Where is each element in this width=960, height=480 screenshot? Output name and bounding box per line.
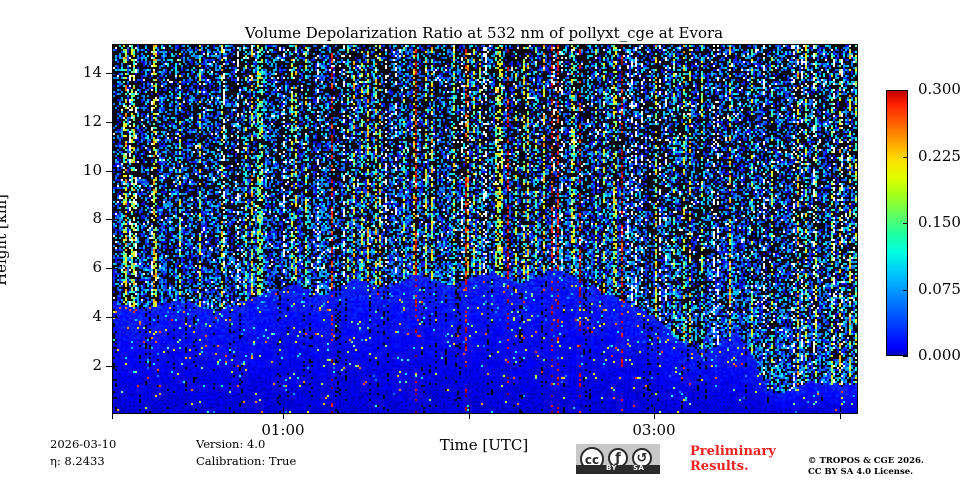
colorbar-tick-label: 0.150	[918, 213, 960, 231]
y-tick-label: 8	[92, 209, 102, 227]
footer-eta-value: η: 8.2433	[50, 454, 105, 468]
footer-date: 2026-03-10	[50, 437, 116, 451]
x-tick-mark	[283, 413, 284, 419]
y-tick-mark-inner	[113, 317, 118, 318]
y-tick-mark	[106, 73, 112, 74]
x-tick-label: 03:00	[614, 421, 694, 439]
copyright-line-2: CC BY SA 4.0 License.	[808, 467, 924, 478]
colorbar-tick-mark	[903, 356, 908, 357]
x-tick-mark	[469, 413, 470, 419]
preliminary-results-note: Preliminary Results.	[690, 444, 776, 474]
x-tick-mark-inner	[840, 407, 841, 412]
y-tick-mark-inner	[113, 122, 118, 123]
footer-version: Version: 4.0	[196, 437, 265, 451]
y-tick-label: 4	[92, 307, 102, 325]
y-axis-label: Height [km]	[0, 160, 10, 320]
cc-sa-label: SA	[633, 464, 644, 472]
colorbar-tick-label: 0.000	[918, 346, 960, 364]
cc-license-badge-icon[interactable]: cc ƒ ↺ BY SA	[576, 444, 660, 474]
y-tick-label: 14	[83, 63, 102, 81]
x-tick-mark-inner	[112, 407, 113, 412]
cc-by-label: BY	[606, 464, 617, 472]
cc-badge-footer: BY SA	[576, 465, 660, 474]
copyright-line-1: © TROPOS & CGE 2026.	[808, 456, 924, 467]
colorbar[interactable]: 0.0000.0750.1500.2250.300	[886, 90, 908, 356]
y-tick-label: 6	[92, 258, 102, 276]
x-tick-mark-inner	[654, 407, 655, 412]
y-tick-mark-inner	[113, 268, 118, 269]
y-tick-mark	[106, 366, 112, 367]
colorbar-tick-mark	[903, 157, 908, 158]
x-tick-mark	[112, 413, 113, 419]
colorbar-tick-label: 0.075	[918, 280, 960, 298]
x-tick-mark	[654, 413, 655, 419]
y-tick-label: 10	[83, 161, 102, 179]
footer-calibration: Calibration: True	[196, 454, 296, 468]
y-tick-mark-inner	[113, 219, 118, 220]
y-tick-mark	[106, 171, 112, 172]
colorbar-tick-mark	[903, 90, 908, 91]
y-tick-mark-inner	[113, 73, 118, 74]
copyright-note: © TROPOS & CGE 2026. CC BY SA 4.0 Licens…	[808, 456, 924, 478]
y-tick-mark	[106, 122, 112, 123]
y-tick-mark	[106, 317, 112, 318]
page-title: Volume Depolarization Ratio at 532 nm of…	[112, 24, 856, 42]
x-tick-mark	[840, 413, 841, 419]
y-tick-mark-inner	[113, 171, 118, 172]
colorbar-tick-label: 0.300	[918, 80, 960, 98]
colorbar-tick-label: 0.225	[918, 147, 960, 165]
preliminary-line-1: Preliminary	[690, 444, 776, 459]
x-tick-mark-inner	[469, 407, 470, 412]
x-tick-mark-inner	[283, 407, 284, 412]
y-tick-label: 2	[92, 356, 102, 374]
colorbar-tick-mark	[903, 290, 908, 291]
y-tick-mark	[106, 268, 112, 269]
y-tick-mark-inner	[113, 366, 118, 367]
y-tick-mark	[106, 219, 112, 220]
y-tick-label: 12	[83, 112, 102, 130]
heatmap-canvas	[113, 45, 857, 413]
colorbar-tick-mark	[903, 223, 908, 224]
heatmap-plot-area[interactable]	[112, 44, 858, 414]
preliminary-line-2: Results.	[690, 459, 776, 474]
